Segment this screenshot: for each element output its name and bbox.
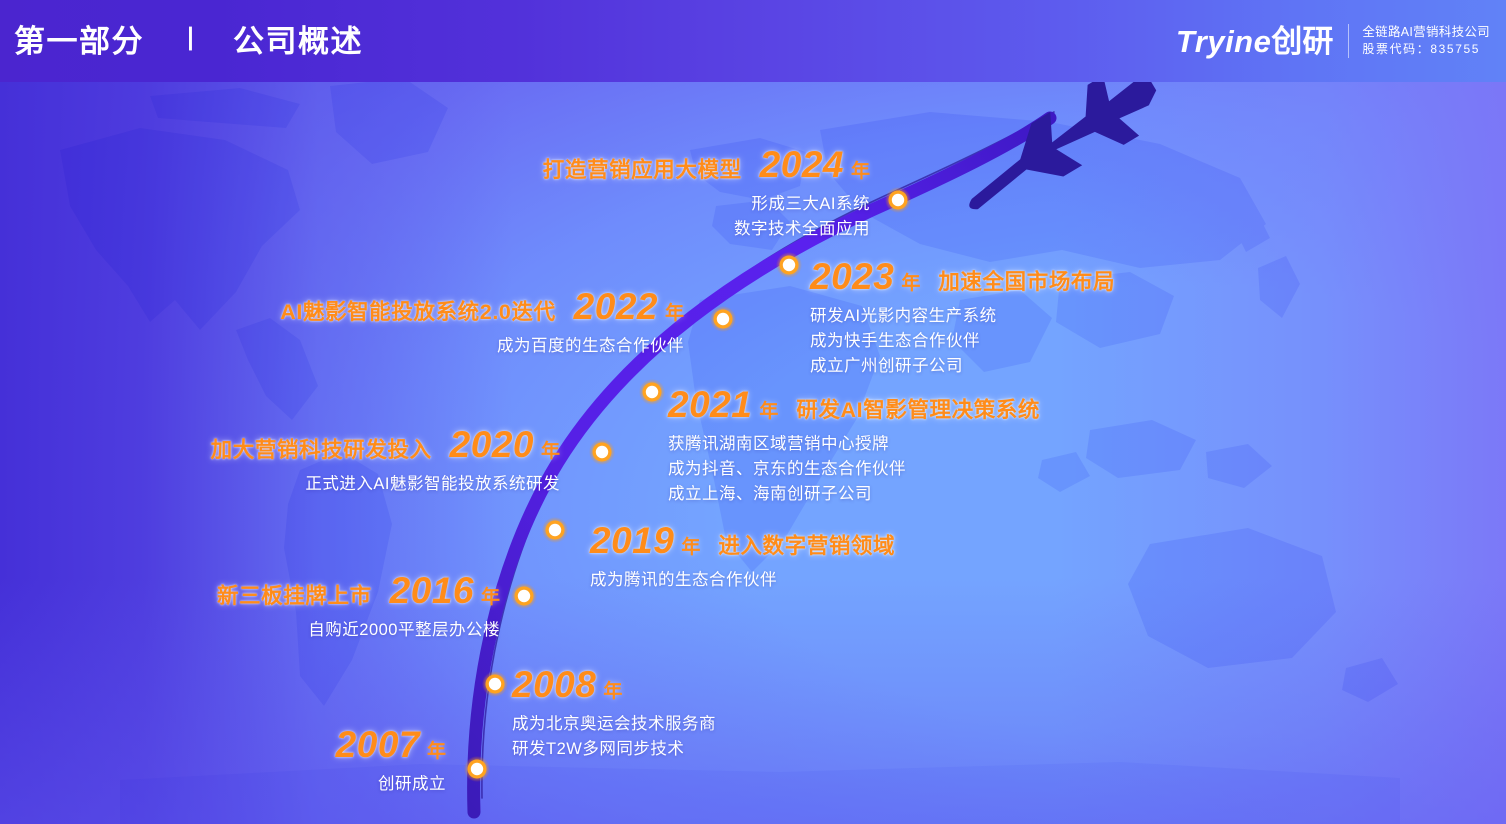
timeline-item-2020: 加大营销科技研发投入 2020 年 正式进入AI魅影智能投放系统研发 <box>60 426 560 497</box>
logo-wordmark: Tryine创研 <box>1176 26 1333 57</box>
timeline-detail-line: 获腾讯湖南区域营销中心授牌 <box>668 432 1148 457</box>
timeline-year-unit: 年 <box>665 304 684 323</box>
timeline-head: 2007 年 <box>180 726 446 763</box>
timeline-year-unit: 年 <box>681 538 700 557</box>
brand-logo: Tryine创研 全链路AI营销科技公司 股票代码：835755 <box>1176 24 1490 59</box>
slide-canvas: 第一部分 丨 公司概述 Tryine创研 全链路AI营销科技公司 股票代码：83… <box>0 0 1506 824</box>
timeline-detail-line: 自购近2000平整层办公楼 <box>120 618 500 643</box>
timeline-detail-line: 成立上海、海南创研子公司 <box>668 482 1148 507</box>
timeline-year-unit: 年 <box>427 742 446 761</box>
header-separator: 丨 <box>178 28 203 53</box>
logo-tagline-group: 全链路AI营销科技公司 股票代码：835755 <box>1362 24 1490 59</box>
timeline-detail-line: 成立广州创研子公司 <box>810 354 1230 379</box>
timeline-head: 2023 年 加速全国市场布局 <box>810 258 1230 295</box>
timeline-label: 新三板挂牌上市 <box>217 586 372 608</box>
timeline-year-unit: 年 <box>851 162 870 181</box>
timeline-item-2021: 2021 年 研发AI智影管理决策系统 获腾讯湖南区域营销中心授牌 成为抖音、京… <box>668 386 1148 507</box>
section-label: 第一部分 <box>14 26 144 57</box>
timeline-detail-line: 成为北京奥运会技术服务商 <box>512 712 842 737</box>
timeline-year: 2016 <box>390 572 474 609</box>
timeline-head: 2021 年 研发AI智影管理决策系统 <box>668 386 1148 423</box>
timeline-detail-line: 数字技术全面应用 <box>250 217 870 242</box>
timeline-details: 正式进入AI魅影智能投放系统研发 <box>60 472 560 497</box>
timeline-label: AI魅影智能投放系统2.0迭代 <box>280 302 555 324</box>
timeline-label: 加大营销科技研发投入 <box>211 440 432 462</box>
timeline-detail-line: 正式进入AI魅影智能投放系统研发 <box>60 472 560 497</box>
timeline-year-unit: 年 <box>541 442 560 461</box>
timeline-label: 研发AI智影管理决策系统 <box>796 400 1040 422</box>
timeline-item-2016: 新三板挂牌上市 2016 年 自购近2000平整层办公楼 <box>120 572 500 643</box>
timeline-detail-line: 成为抖音、京东的生态合作伙伴 <box>668 457 1148 482</box>
logo-chinese: 创研 <box>1271 24 1333 59</box>
timeline-details: 获腾讯湖南区域营销中心授牌 成为抖音、京东的生态合作伙伴 成立上海、海南创研子公… <box>668 432 1148 507</box>
timeline-year: 2020 <box>450 426 534 463</box>
timeline-item-2008: 2008 年 成为北京奥运会技术服务商 研发T2W多网同步技术 <box>512 666 842 762</box>
logo-tagline-primary: 全链路AI营销科技公司 <box>1362 24 1490 42</box>
timeline-detail-line: 成为快手生态合作伙伴 <box>810 329 1230 354</box>
timeline-year: 2019 <box>590 522 674 559</box>
header-left-group: 第一部分 丨 公司概述 <box>14 26 363 57</box>
timeline-details: 创研成立 <box>180 772 446 797</box>
timeline-label: 进入数字营销领域 <box>718 536 895 558</box>
timeline-head: 2008 年 <box>512 666 842 703</box>
timeline-year-unit: 年 <box>901 274 920 293</box>
logo-tagline-stock-code: 股票代码：835755 <box>1362 41 1490 58</box>
timeline-year-unit: 年 <box>603 682 622 701</box>
timeline-label: 加速全国市场布局 <box>938 272 1115 294</box>
timeline-item-2019: 2019 年 进入数字营销领域 成为腾讯的生态合作伙伴 <box>590 522 1010 593</box>
timeline-year: 2021 <box>668 386 752 423</box>
logo-latin: Tryine <box>1176 24 1271 59</box>
timeline-year-unit: 年 <box>481 588 500 607</box>
timeline-item-2022: AI魅影智能投放系统2.0迭代 2022 年 成为百度的生态合作伙伴 <box>100 288 684 359</box>
timeline-year: 2023 <box>810 258 894 295</box>
timeline-head: AI魅影智能投放系统2.0迭代 2022 年 <box>100 288 684 325</box>
timeline-head: 打造营销应用大模型 2024 年 <box>250 146 870 183</box>
timeline-item-2007: 2007 年 创研成立 <box>180 726 446 797</box>
timeline-year: 2022 <box>574 288 658 325</box>
timeline-detail-line: 形成三大AI系统 <box>250 192 870 217</box>
timeline-head: 新三板挂牌上市 2016 年 <box>120 572 500 609</box>
timeline-year: 2008 <box>512 666 596 703</box>
timeline-item-2023: 2023 年 加速全国市场布局 研发AI光影内容生产系统 成为快手生态合作伙伴 … <box>810 258 1230 379</box>
slide-header: 第一部分 丨 公司概述 Tryine创研 全链路AI营销科技公司 股票代码：83… <box>0 0 1506 82</box>
timeline-label: 打造营销应用大模型 <box>543 160 742 182</box>
timeline-year-unit: 年 <box>759 402 778 421</box>
timeline-details: 自购近2000平整层办公楼 <box>120 618 500 643</box>
timeline-details: 成为百度的生态合作伙伴 <box>100 334 684 359</box>
timeline-detail-line: 成为腾讯的生态合作伙伴 <box>590 568 1010 593</box>
timeline-detail-line: 研发T2W多网同步技术 <box>512 737 842 762</box>
timeline-head: 加大营销科技研发投入 2020 年 <box>60 426 560 463</box>
timeline-detail-line: 成为百度的生态合作伙伴 <box>100 334 684 359</box>
timeline-details: 形成三大AI系统 数字技术全面应用 <box>250 192 870 242</box>
timeline-details: 研发AI光影内容生产系统 成为快手生态合作伙伴 成立广州创研子公司 <box>810 304 1230 379</box>
timeline-detail-line: 创研成立 <box>180 772 446 797</box>
logo-divider <box>1348 24 1349 58</box>
timeline-year: 2007 <box>336 726 420 763</box>
timeline-details: 成为腾讯的生态合作伙伴 <box>590 568 1010 593</box>
page-title: 公司概述 <box>233 26 363 57</box>
timeline-details: 成为北京奥运会技术服务商 研发T2W多网同步技术 <box>512 712 842 762</box>
timeline-item-2024: 打造营销应用大模型 2024 年 形成三大AI系统 数字技术全面应用 <box>250 146 870 242</box>
timeline-year: 2024 <box>760 146 844 183</box>
timeline-head: 2019 年 进入数字营销领域 <box>590 522 1010 559</box>
timeline-detail-line: 研发AI光影内容生产系统 <box>810 304 1230 329</box>
